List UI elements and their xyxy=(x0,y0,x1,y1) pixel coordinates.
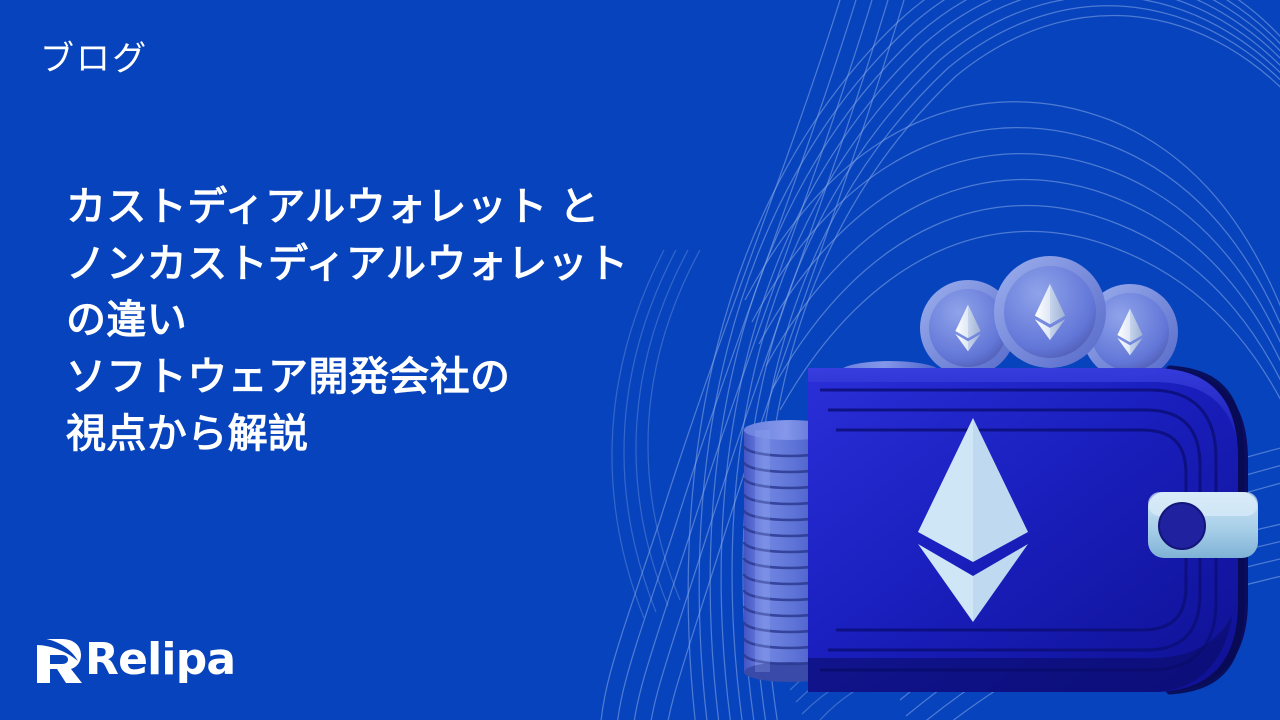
page-title: カストディアルウォレット と ノンカストディアルウォレット の違い ソフトウェア… xyxy=(66,179,786,463)
clasp-button xyxy=(1159,503,1205,549)
relipa-logo[interactable]: Relipa xyxy=(32,634,235,686)
relipa-r-swoosh-icon xyxy=(32,635,84,685)
title-line: 視点から解説 xyxy=(66,406,786,463)
coin-stack-right xyxy=(840,361,940,683)
title-line: の違い xyxy=(66,292,786,349)
title-line: カストディアルウォレット と xyxy=(66,179,786,236)
wallet-clasp xyxy=(1148,492,1258,558)
wallet-body xyxy=(808,368,1248,692)
ethereum-wallet-illustration xyxy=(700,250,1280,720)
title-line: ノンカストディアルウォレット xyxy=(66,236,786,293)
wallet-ethereum-logo xyxy=(918,418,1028,622)
blog-cover-banner: ブログ カストディアルウォレット と ノンカストディアルウォレット の違い ソフ… xyxy=(0,0,1280,720)
kicker-label: ブログ xyxy=(40,38,148,81)
ethereum-coin-right xyxy=(1082,284,1178,380)
ethereum-coin-left xyxy=(920,280,1016,376)
title-line: ソフトウェア開発会社の xyxy=(66,349,786,406)
relipa-wordmark: Relipa xyxy=(85,638,235,682)
ethereum-coin-center xyxy=(994,256,1106,368)
